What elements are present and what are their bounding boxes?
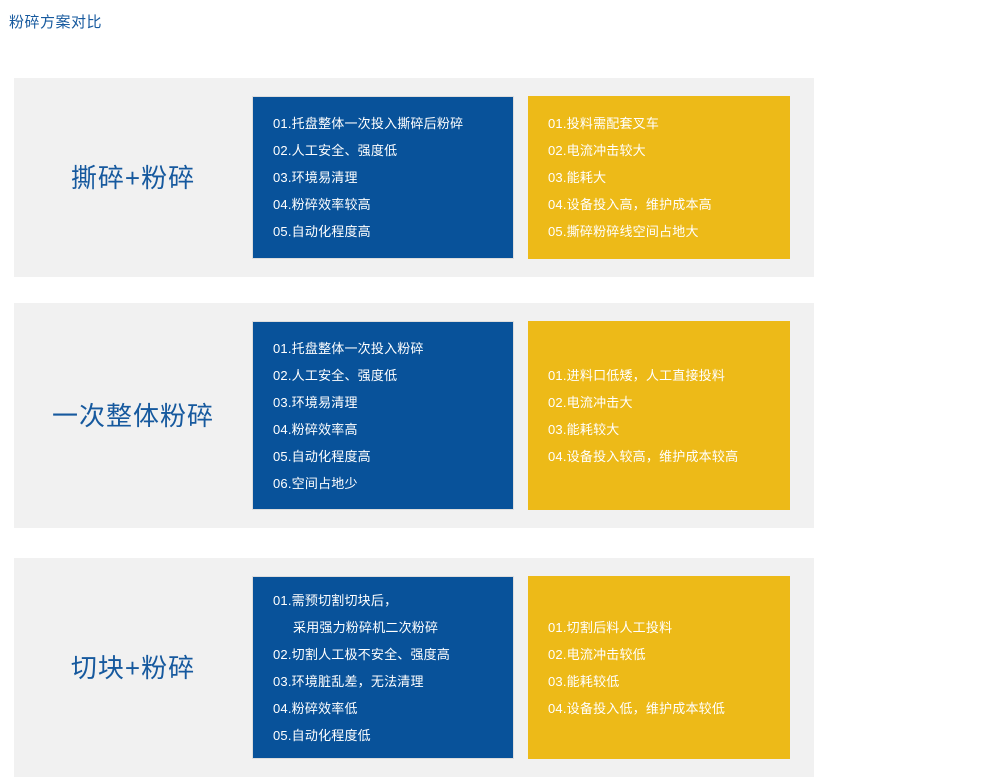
pros-item: 06.空间占地少 [273,470,513,497]
comparison-section-1: 撕碎+粉碎 01.托盘整体一次投入撕碎后粉碎 02.人工安全、强度低 03.环境… [14,78,814,277]
section-3-cards: 01.需预切割切块后， 采用强力粉碎机二次粉碎 02.切割人工极不安全、强度高 … [252,558,814,777]
pros-item: 03.环境易清理 [273,389,513,416]
pros-item: 04.粉碎效率高 [273,416,513,443]
cons-item: 03.能耗较低 [548,668,790,695]
pros-item: 01.托盘整体一次投入撕碎后粉碎 [273,110,513,137]
pros-item: 05.自动化程度高 [273,218,513,245]
pros-item: 04.粉碎效率较高 [273,191,513,218]
pros-item: 04.粉碎效率低 [273,695,513,722]
cons-item: 05.撕碎粉碎线空间占地大 [548,218,790,245]
section-2-cons-card: 01.进料口低矮，人工直接投料 02.电流冲击大 03.能耗较大 04.设备投入… [528,321,790,510]
pros-item: 01.托盘整体一次投入粉碎 [273,335,513,362]
section-2-cards: 01.托盘整体一次投入粉碎 02.人工安全、强度低 03.环境易清理 04.粉碎… [252,303,814,528]
section-1-pros-card: 01.托盘整体一次投入撕碎后粉碎 02.人工安全、强度低 03.环境易清理 04… [252,96,514,259]
comparison-sections: 撕碎+粉碎 01.托盘整体一次投入撕碎后粉碎 02.人工安全、强度低 03.环境… [0,78,991,777]
section-1-label: 撕碎+粉碎 [14,161,252,195]
cons-item: 01.切割后料人工投料 [548,614,790,641]
cons-item: 01.进料口低矮，人工直接投料 [548,362,790,389]
cons-item: 02.电流冲击较大 [548,137,790,164]
section-3-pros-card: 01.需预切割切块后， 采用强力粉碎机二次粉碎 02.切割人工极不安全、强度高 … [252,576,514,759]
section-3-label: 切块+粉碎 [14,651,252,685]
cons-item: 02.电流冲击较低 [548,641,790,668]
pros-item: 03.环境脏乱差，无法清理 [273,668,513,695]
pros-item: 02.人工安全、强度低 [273,137,513,164]
section-1-cards: 01.托盘整体一次投入撕碎后粉碎 02.人工安全、强度低 03.环境易清理 04… [252,78,814,277]
section-1-cons-card: 01.投料需配套叉车 02.电流冲击较大 03.能耗大 04.设备投入高，维护成… [528,96,790,259]
cons-item: 03.能耗较大 [548,416,790,443]
pros-item: 02.人工安全、强度低 [273,362,513,389]
page-title: 粉碎方案对比 [9,12,102,34]
cons-item: 03.能耗大 [548,164,790,191]
section-2-label: 一次整体粉碎 [14,399,252,433]
pros-item: 02.切割人工极不安全、强度高 [273,641,513,668]
comparison-section-3: 切块+粉碎 01.需预切割切块后， 采用强力粉碎机二次粉碎 02.切割人工极不安… [14,558,814,777]
cons-item: 04.设备投入高，维护成本高 [548,191,790,218]
pros-item: 05.自动化程度高 [273,443,513,470]
cons-item: 04.设备投入较高，维护成本较高 [548,443,790,470]
pros-item-continuation: 采用强力粉碎机二次粉碎 [273,614,513,641]
cons-item: 02.电流冲击大 [548,389,790,416]
cons-item: 01.投料需配套叉车 [548,110,790,137]
section-2-pros-card: 01.托盘整体一次投入粉碎 02.人工安全、强度低 03.环境易清理 04.粉碎… [252,321,514,510]
comparison-section-2: 一次整体粉碎 01.托盘整体一次投入粉碎 02.人工安全、强度低 03.环境易清… [14,303,814,528]
pros-item: 01.需预切割切块后， [273,587,513,614]
cons-item: 04.设备投入低，维护成本较低 [548,695,790,722]
pros-item: 03.环境易清理 [273,164,513,191]
pros-item: 05.自动化程度低 [273,722,513,749]
section-3-cons-card: 01.切割后料人工投料 02.电流冲击较低 03.能耗较低 04.设备投入低，维… [528,576,790,759]
